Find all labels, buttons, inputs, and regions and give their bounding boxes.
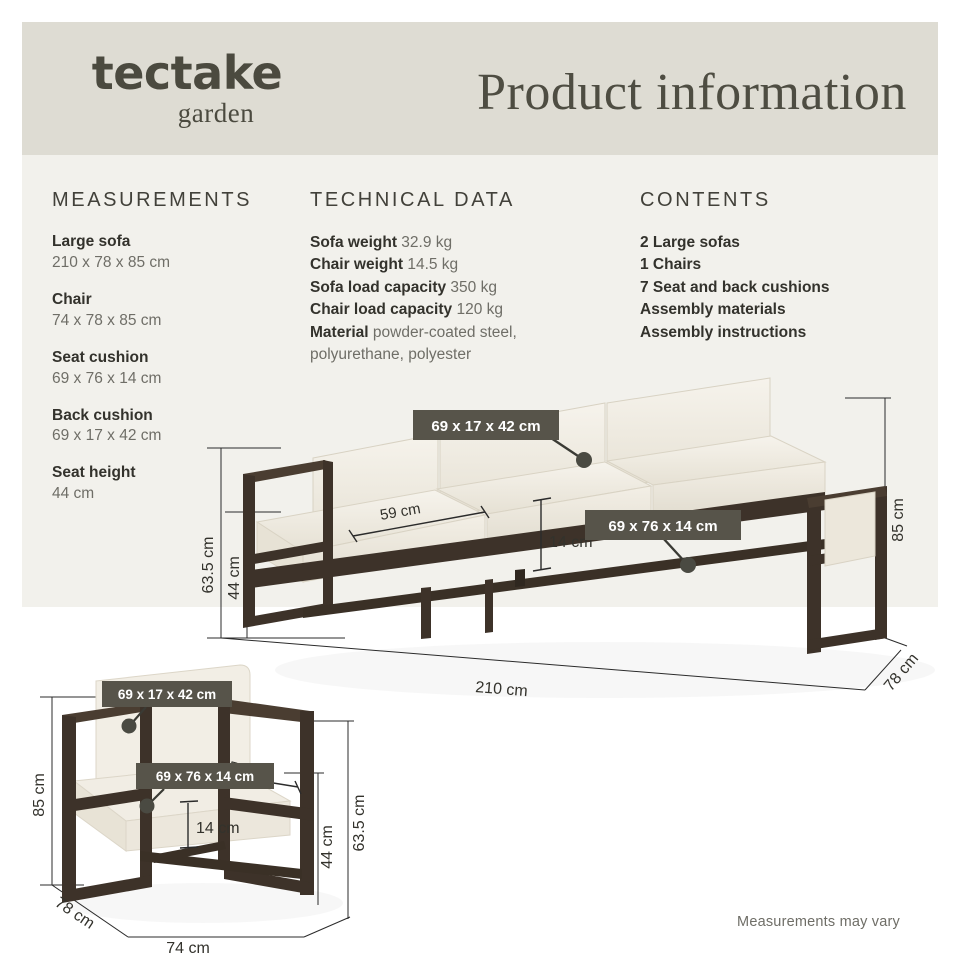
measurement-label: Back cushion xyxy=(52,406,302,427)
technical-value: 14.5 kg xyxy=(407,256,458,273)
technical-row: Sofa weight 32.9 kg xyxy=(310,232,630,254)
contents-column: CONTENTS 2 Large sofas 1 Chairs 7 Seat a… xyxy=(640,190,940,344)
footnote: Measurements may vary xyxy=(737,914,900,930)
contents-item: 1 Chairs xyxy=(640,254,940,276)
technical-label: Chair load capacity xyxy=(310,301,452,318)
measurement-value: 74 x 78 x 85 cm xyxy=(52,311,302,332)
contents-item: Assembly instructions xyxy=(640,322,940,344)
chair-total-height-label: 85 cm xyxy=(31,773,48,817)
brand-logo: tectake garden xyxy=(72,50,302,127)
measurement-value: 69 x 76 x 14 cm xyxy=(52,369,302,390)
measurements-heading: MEASUREMENTS xyxy=(52,190,302,210)
measurement-label: Large sofa xyxy=(52,232,302,253)
contents-item: 2 Large sofas xyxy=(640,232,940,254)
sofa-ground-shadow xyxy=(275,642,935,698)
measurement-item: Seat height 44 cm xyxy=(52,463,302,505)
chair-seat-cushion-callout-label: 69 x 76 x 14 cm xyxy=(156,769,254,784)
measurement-label: Seat height xyxy=(52,463,302,484)
logo-wordmark: tectake xyxy=(72,50,302,96)
measurement-value: 210 x 78 x 85 cm xyxy=(52,253,302,274)
measurement-item: Large sofa 210 x 78 x 85 cm xyxy=(52,232,302,274)
measurement-value: 69 x 17 x 42 cm xyxy=(52,426,302,447)
callout-badge xyxy=(102,681,232,707)
product-information-page: tectake garden Product information MEASU… xyxy=(0,0,960,960)
page-title: Product information xyxy=(442,64,942,121)
technical-row: Material powder-coated steel, xyxy=(310,322,630,344)
chair-back-cushion-callout-label: 69 x 17 x 42 cm xyxy=(118,687,216,702)
chair-ground-shadow xyxy=(63,883,343,923)
chair-seat-width-label: 59 cm xyxy=(227,758,271,784)
technical-data-column: TECHNICAL DATA Sofa weight 32.9 kg Chair… xyxy=(310,190,630,367)
sofa-length-label: 210 cm xyxy=(475,679,529,700)
measurements-column: MEASUREMENTS Large sofa 210 x 78 x 85 cm… xyxy=(52,190,302,521)
chair-seat-cushion-callout: 69 x 76 x 14 cm xyxy=(136,763,274,814)
technical-row: Chair load capacity 120 kg xyxy=(310,299,630,321)
measurement-label: Seat cushion xyxy=(52,348,302,369)
measurement-item: Chair 74 x 78 x 85 cm xyxy=(52,290,302,332)
chair-back-height-label: 63.5 cm xyxy=(351,795,368,852)
technical-row: Chair weight 14.5 kg xyxy=(310,254,630,276)
measurement-item: Seat cushion 69 x 76 x 14 cm xyxy=(52,348,302,390)
logo-subtitle: garden xyxy=(130,100,302,127)
chair-width-label: 74 cm xyxy=(166,940,210,955)
technical-label: Material xyxy=(310,324,369,341)
chair-back-cushion xyxy=(96,665,250,791)
technical-label: Chair weight xyxy=(310,256,403,273)
measurement-value: 44 cm xyxy=(52,484,302,505)
technical-material-continuation: polyurethane, polyester xyxy=(310,344,630,366)
chair-diagram: 59 cm 14 cm 85 cm 63.5 cm 44 cm 78 cm 74… xyxy=(18,655,378,955)
chair-dimension-lines xyxy=(40,697,354,937)
technical-data-heading: TECHNICAL DATA xyxy=(310,190,630,210)
contents-item: 7 Seat and back cushions xyxy=(640,277,940,299)
technical-value: 32.9 kg xyxy=(401,234,452,251)
chair-seat-cushion xyxy=(74,765,290,851)
technical-value: 120 kg xyxy=(456,301,503,318)
chair-depth-label: 78 cm xyxy=(52,894,98,932)
chair-cushion-thickness-dimension: 14 cm xyxy=(180,801,240,848)
contents-heading: CONTENTS xyxy=(640,190,940,210)
chair-seat-height-label: 44 cm xyxy=(319,825,336,869)
callout-dot xyxy=(140,799,155,814)
callout-badge xyxy=(136,763,274,789)
header-band: tectake garden Product information xyxy=(22,22,938,155)
technical-row: Sofa load capacity 350 kg xyxy=(310,277,630,299)
callout-dot xyxy=(122,719,137,734)
contents-item: Assembly materials xyxy=(640,299,940,321)
technical-label: Sofa load capacity xyxy=(310,279,446,296)
technical-value: powder-coated steel, xyxy=(373,324,517,341)
technical-value: 350 kg xyxy=(450,279,497,296)
chair-frame xyxy=(62,699,314,903)
technical-label: Sofa weight xyxy=(310,234,397,251)
sofa-depth-label: 78 cm xyxy=(881,650,922,694)
measurement-item: Back cushion 69 x 17 x 42 cm xyxy=(52,406,302,448)
chair-cushion-thickness-label: 14 cm xyxy=(196,820,240,837)
chair-back-cushion-callout: 69 x 17 x 42 cm xyxy=(102,681,232,734)
measurement-label: Chair xyxy=(52,290,302,311)
chair-seat-width-dimension: 59 cm xyxy=(221,758,301,794)
